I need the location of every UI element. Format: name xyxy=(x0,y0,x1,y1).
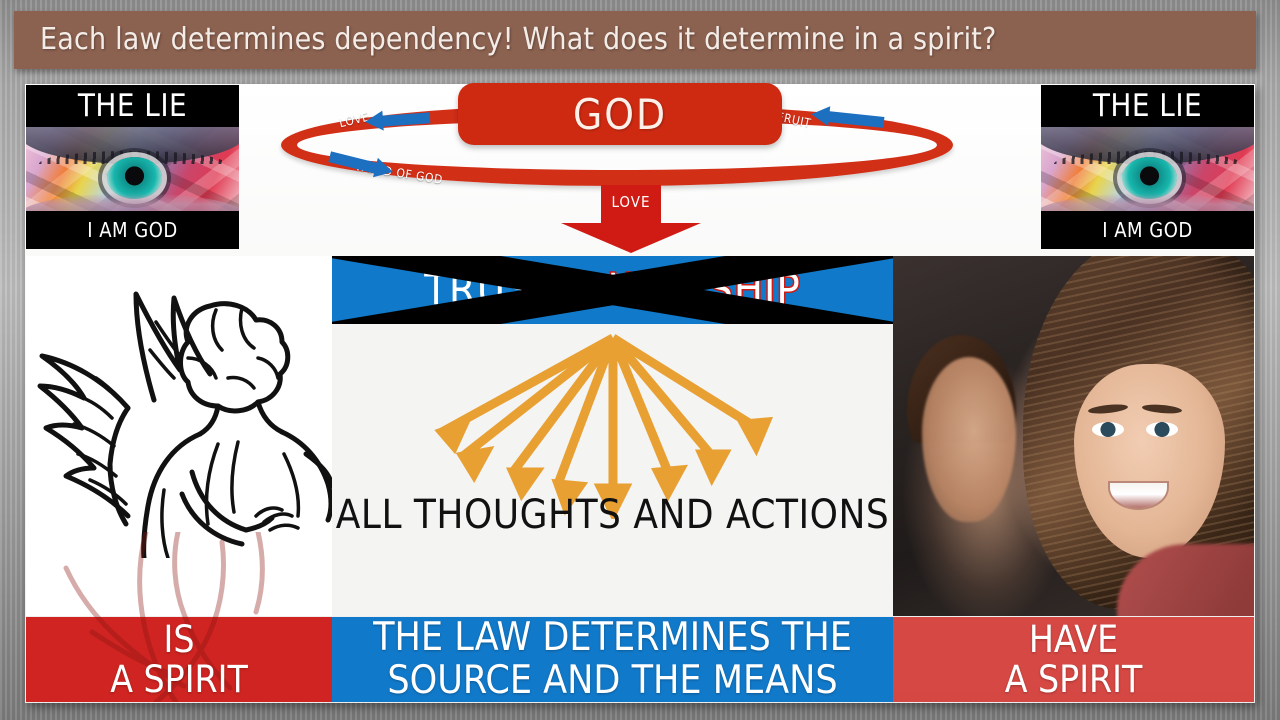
love-down-arrow-icon: LOVE xyxy=(561,185,701,253)
photo-girl-eye-left xyxy=(1092,422,1124,437)
slide-canvas: THE LIE I AM GOD THE LIE I AM GOD LOVE W… xyxy=(25,84,1255,703)
bottom-bar-left-label: IS A SPIRIT xyxy=(110,620,248,700)
photo-boy-face xyxy=(922,357,1016,523)
bottom-bar-center: THE LAW DETERMINES THE SOURCE AND THE ME… xyxy=(332,617,893,702)
god-label: GOD xyxy=(573,90,667,139)
lie-card-left-header: THE LIE xyxy=(26,85,239,127)
presentation-slide: Each law determines dependency! What doe… xyxy=(0,0,1280,720)
lie-card-right: THE LIE I AM GOD xyxy=(1041,85,1254,249)
radiating-arrows-icon xyxy=(332,324,893,519)
center-content-panel: TRUST = WORSHIP xyxy=(332,256,893,616)
god-diagram: LOVE WORD OF GOD FRUIT GOD LOVE xyxy=(239,85,1041,249)
slide-title-bar: Each law determines dependency! What doe… xyxy=(14,11,1256,69)
bottom-bar-right: HAVE A SPIRIT xyxy=(893,617,1254,702)
trust-equals-worship-banner: TRUST = WORSHIP xyxy=(332,256,893,324)
all-thoughts-and-actions-label: ALL THOUGHTS AND ACTIONS xyxy=(332,492,893,538)
god-label-box: GOD xyxy=(458,83,782,145)
lie-card-right-header: THE LIE xyxy=(1041,85,1254,127)
low-poly-eye-image-right xyxy=(1041,127,1254,211)
lie-card-left: THE LIE I AM GOD xyxy=(26,85,239,249)
students-photo-panel xyxy=(893,256,1254,616)
angel-illustration-panel xyxy=(26,256,332,616)
lie-card-left-footer: I AM GOD xyxy=(26,211,239,249)
lie-card-right-footer: I AM GOD xyxy=(1041,211,1254,249)
low-poly-eye-image-left xyxy=(26,127,239,211)
angel-line-drawing-icon xyxy=(32,258,332,558)
bottom-bar-right-label: HAVE A SPIRIT xyxy=(1005,620,1143,700)
bottom-bar-center-label: THE LAW DETERMINES THE SOURCE AND THE ME… xyxy=(373,617,852,701)
bottom-bar-left: IS A SPIRIT xyxy=(26,617,332,702)
love-down-arrow-label: LOVE xyxy=(561,193,701,211)
photo-girl-eye-right xyxy=(1146,422,1178,437)
page-title: Each law determines dependency! What doe… xyxy=(40,22,997,57)
